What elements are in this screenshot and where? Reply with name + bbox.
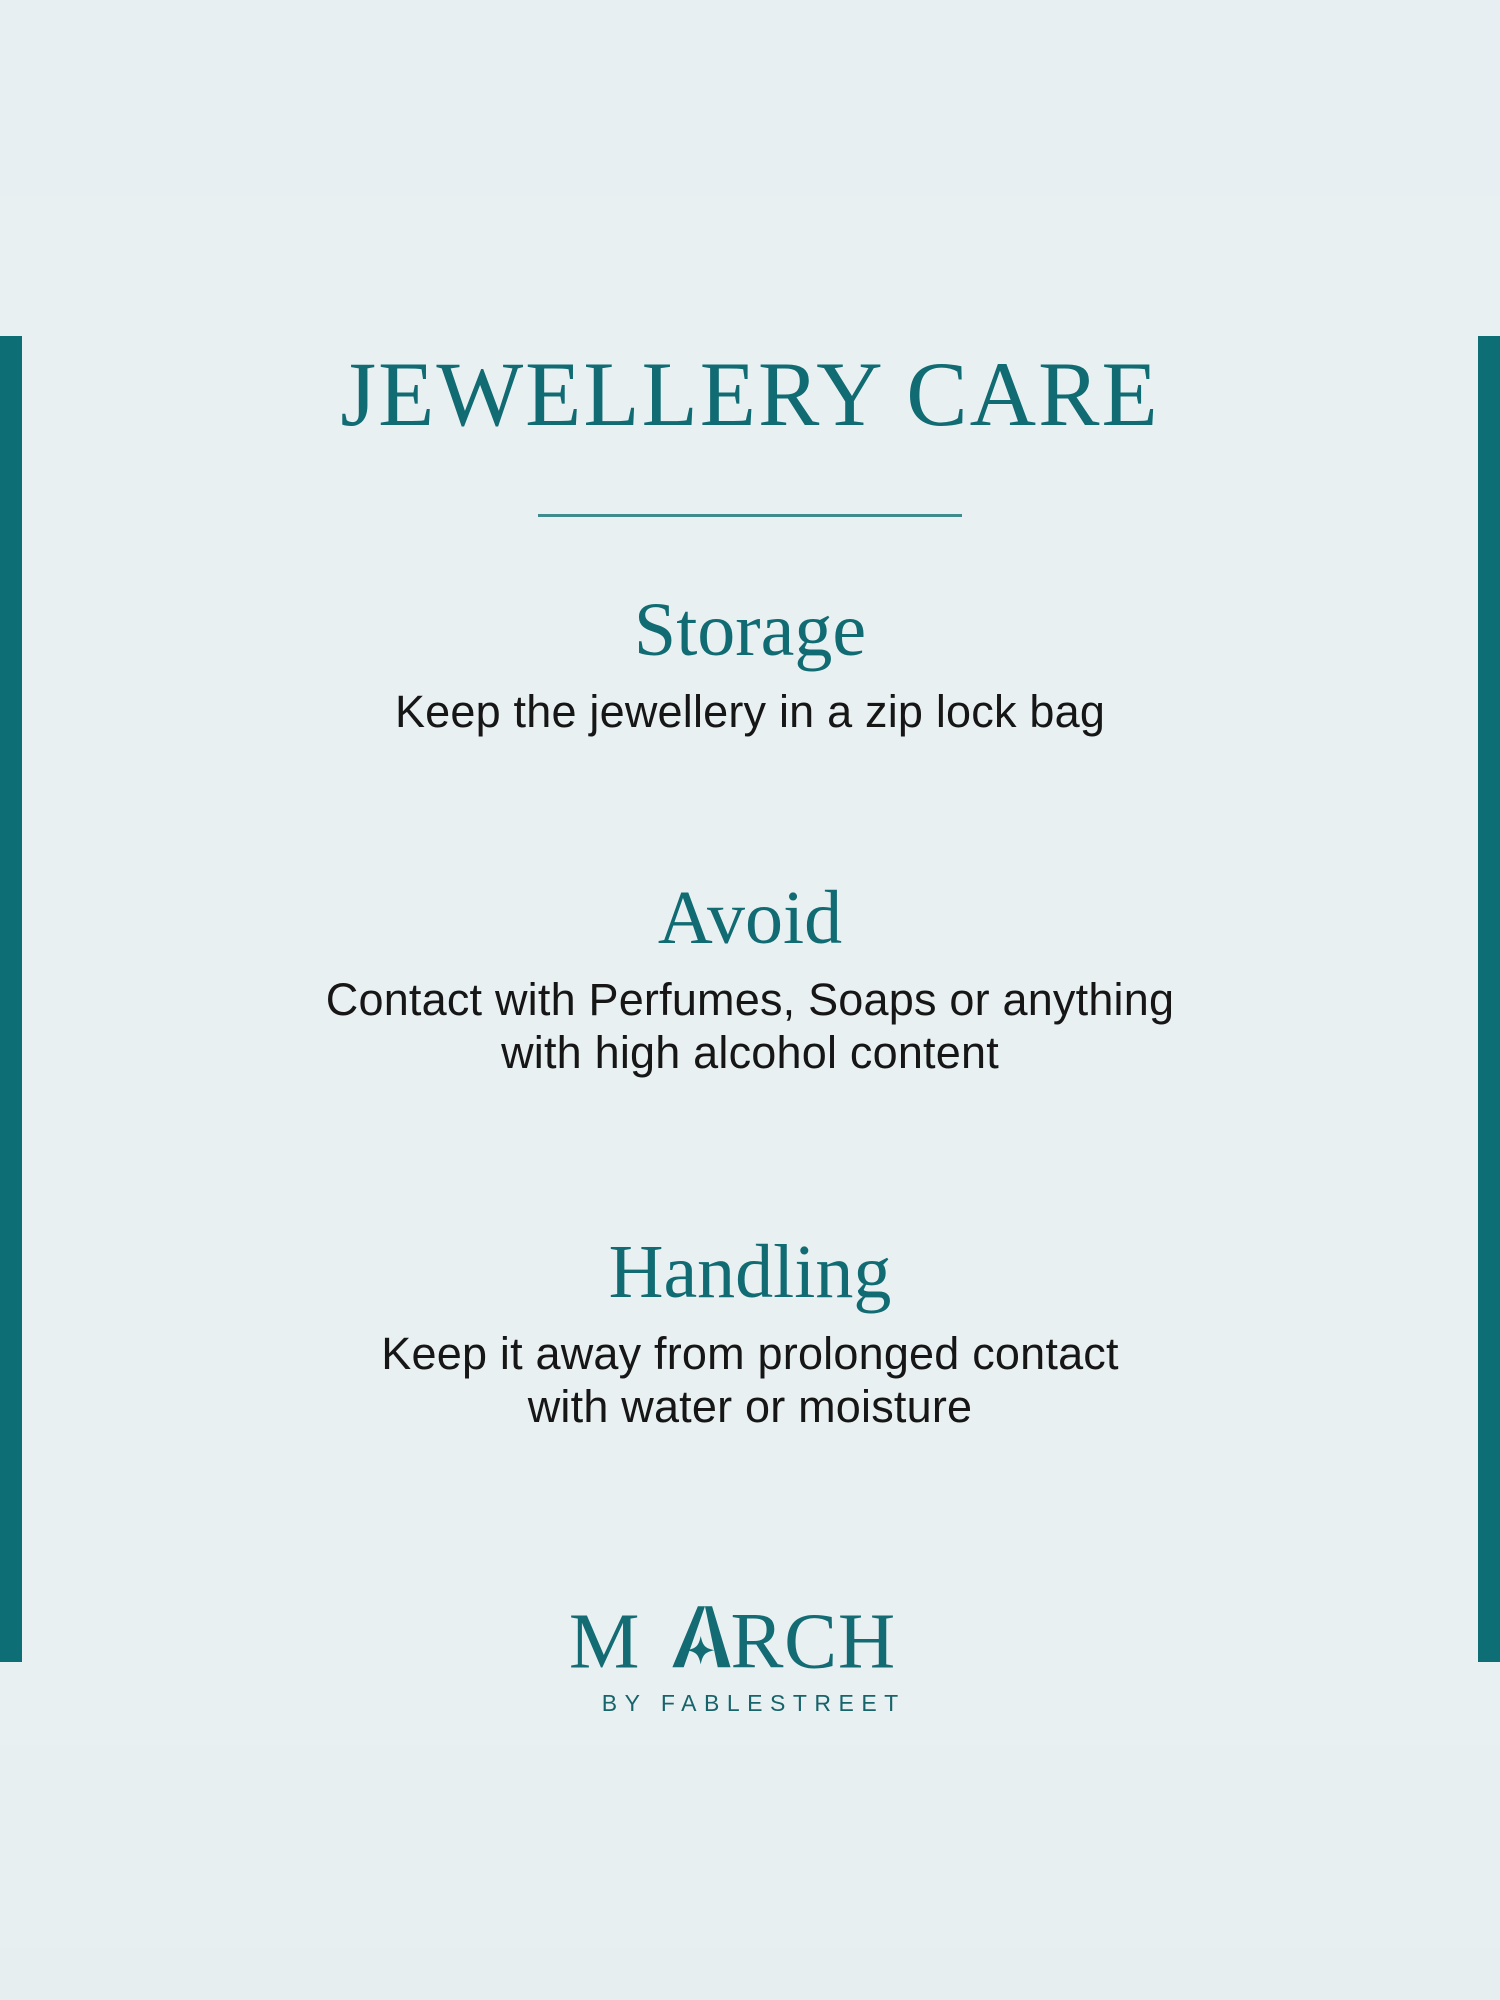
brand-lockup: M RCH BY FABLESTREET bbox=[150, 1602, 1350, 1717]
content-column: JEWELLERY CARE Storage Keep the jeweller… bbox=[150, 0, 1350, 2000]
care-section-storage: Storage Keep the jewellery in a zip lock… bbox=[150, 590, 1350, 738]
left-accent-rule bbox=[0, 336, 22, 1662]
section-heading-storage: Storage bbox=[150, 590, 1350, 671]
care-section-handling: Handling Keep it away from prolonged con… bbox=[150, 1232, 1350, 1433]
section-body-avoid-line-2: with high alcohol content bbox=[150, 1026, 1350, 1079]
section-body-avoid-line-1: Contact with Perfumes, Soaps or anything bbox=[150, 973, 1350, 1026]
jewellery-care-card: JEWELLERY CARE Storage Keep the jeweller… bbox=[0, 0, 1500, 2000]
brand-tagline: BY FABLESTREET bbox=[150, 1690, 1350, 1717]
section-body-storage: Keep the jewellery in a zip lock bag bbox=[150, 685, 1350, 738]
page-title: JEWELLERY CARE bbox=[150, 348, 1350, 440]
svg-text:RCH: RCH bbox=[730, 1602, 895, 1680]
title-divider bbox=[538, 514, 962, 517]
march-wordmark: M RCH bbox=[566, 1602, 935, 1680]
section-heading-avoid: Avoid bbox=[150, 878, 1350, 959]
section-body-handling-line-1: Keep it away from prolonged contact bbox=[150, 1327, 1350, 1380]
right-accent-rule bbox=[1478, 336, 1500, 1662]
care-section-avoid: Avoid Contact with Perfumes, Soaps or an… bbox=[150, 878, 1350, 1079]
section-body-handling-line-2: with water or moisture bbox=[150, 1380, 1350, 1433]
section-heading-handling: Handling bbox=[150, 1232, 1350, 1313]
svg-text:M: M bbox=[568, 1602, 639, 1680]
